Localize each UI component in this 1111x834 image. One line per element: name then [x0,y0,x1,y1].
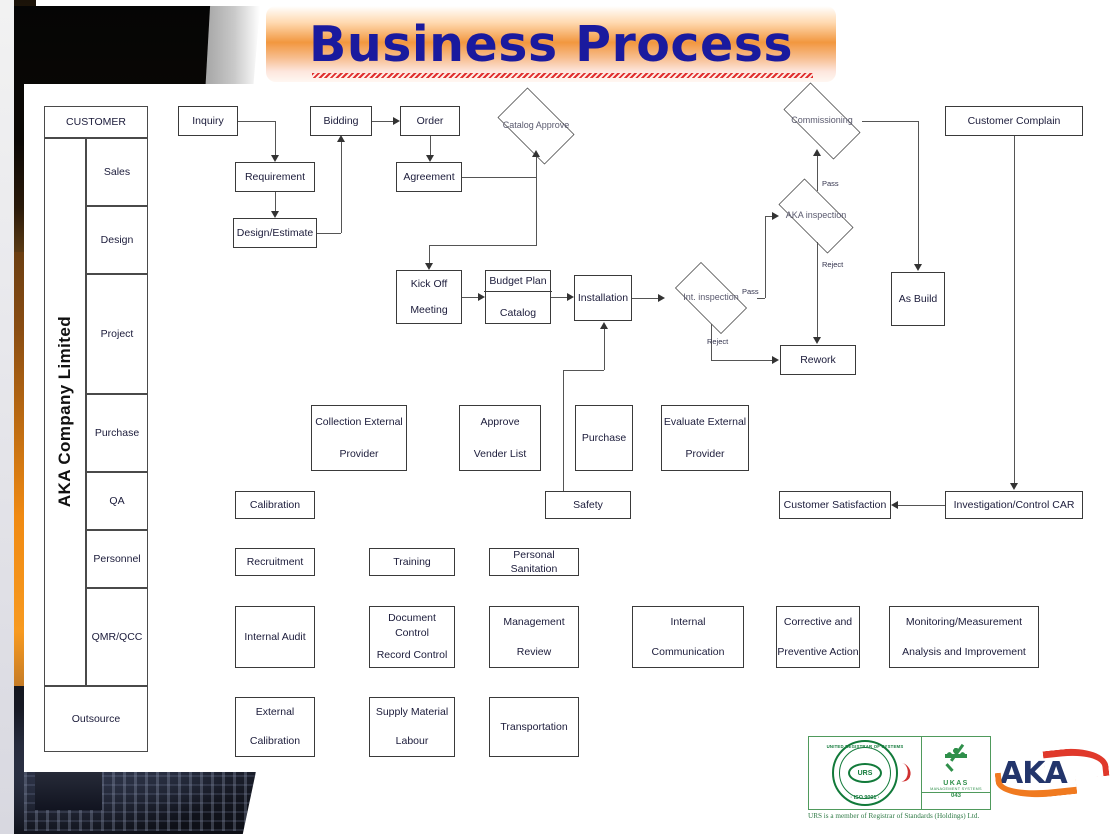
edge-budget-installation [551,297,568,298]
edge-aka-reject-v [817,242,818,338]
node-label: Customer Satisfaction [778,498,892,512]
urs-seal-icon: UNITED REGISTRAR OF SYSTEMS URS · ISO 90… [832,740,898,806]
node-label: AKA inspection [774,210,858,221]
node-label-line2: Meeting [395,303,463,317]
box-supply-material-labour[interactable]: Supply Material Labour [369,697,455,757]
swimlane-header-label: CUSTOMER [66,116,126,128]
box-training[interactable]: Training [369,548,455,576]
node-kick-off-meeting[interactable]: Kick Off Meeting [396,270,462,324]
arrowhead [772,356,779,364]
arrowhead [478,293,485,301]
box-label-line1: Recruitment [234,555,316,569]
box-label-line1: Internal Audit [234,630,316,644]
swimlane-item-purchase[interactable]: Purchase [86,394,148,472]
swimlane-label: Outsource [72,713,120,725]
edge-safety-installation-h [563,370,604,371]
box-label-line2: Provider [310,447,408,461]
page-title: Business Process [309,20,793,69]
arrowhead [393,117,400,125]
swimlane-item-qmr-qcc[interactable]: QMR/QCC [86,588,148,686]
box-internal-communication[interactable]: Internal Communication [632,606,744,668]
edge-agreement-catalog [462,177,536,178]
ukas-subtitle: MANAGEMENT SYSTEMS [930,787,982,791]
box-management-review[interactable]: Management Review [489,606,579,668]
edge-kickoff-budget [462,297,479,298]
box-label-line1: Transportation [488,720,580,734]
edge-design-bidding-v [341,142,342,233]
edge-complain-investigation [1014,136,1015,484]
node-customer-complain[interactable]: Customer Complain [945,106,1083,136]
edge-commissioning-asbuild-v [918,121,919,265]
arrowhead [813,337,821,344]
aka-brand-logo: AKA [1000,744,1104,800]
node-budget-plan-catalog[interactable]: Budget Plan Catalog [485,270,551,324]
node-bidding[interactable]: Bidding [310,106,372,136]
edge-inquiry-requirement [238,121,275,122]
node-requirement[interactable]: Requirement [235,162,315,192]
box-corrective-preventive-action[interactable]: Corrective and Preventive Action [776,606,860,668]
edge-safety-installation-v2 [604,328,605,370]
arrowhead [600,322,608,329]
box-label-line2: Calibration [234,734,316,748]
urs-iso9001-logo: UNITED REGISTRAR OF SYSTEMS URS · ISO 90… [809,737,922,809]
node-rework[interactable]: Rework [780,345,856,375]
node-label: Rework [779,353,857,367]
box-label-line1: Approve [458,415,542,429]
box-label-line1: Calibration [234,498,316,512]
swimlane-header-customer: CUSTOMER [44,106,148,138]
ukas-logo: UKAS MANAGEMENT SYSTEMS 043 [922,737,990,809]
arrowhead [567,293,574,301]
box-monitoring-measurement[interactable]: Monitoring/Measurement Analysis and Impr… [889,606,1039,668]
box-calibration[interactable]: Calibration [235,491,315,519]
node-label: As Build [890,292,946,306]
arrowhead [891,501,898,509]
box-document-record-control[interactable]: Document Control Record Control [369,606,455,668]
ukas-number: 043 [922,792,990,799]
node-label: Inquiry [177,114,239,128]
node-agreement[interactable]: Agreement [396,162,462,192]
edge-investigation-satisfaction [898,505,945,506]
box-label-line1: Purchase [574,431,634,445]
box-label-line2: Vender List [458,447,542,461]
arrowhead [813,149,821,156]
edge-order-agreement [430,136,431,156]
edge-catalog-kickoff-h [429,245,537,246]
node-label: Commissioning [779,115,865,126]
node-customer-satisfaction[interactable]: Customer Satisfaction [779,491,891,519]
node-int-inspection[interactable]: Int. inspection [665,272,757,324]
arrowhead [1010,483,1018,490]
edge-int-pass-v [765,216,766,298]
node-investigation-control-car[interactable]: Investigation/Control CAR [945,491,1083,519]
node-catalog-approve[interactable]: Catalog Approve [489,96,583,156]
node-label-line2: Catalog [484,303,552,323]
box-label-line1: Monitoring/Measurement [888,615,1040,629]
arrowhead [426,155,434,162]
edge-label-aka-pass: Pass [822,179,839,188]
checkmark-icon [943,758,969,780]
swimlane-item-qa[interactable]: QA [86,472,148,530]
edge-inquiry-requirement-v [275,121,276,157]
swimlane-company-label: AKA Company Limited [44,138,86,686]
edge-installation-intinspection [632,298,659,299]
box-label-line1: Internal [631,615,745,629]
box-label-line2: Analysis and Improvement [888,645,1040,659]
swimlane-item-sales[interactable]: Sales [86,138,148,206]
box-label-line2: Preventive Action [775,645,861,659]
swimlane-label: Purchase [95,427,139,439]
box-label-line1: Evaluate External [660,415,750,429]
box-label-line1: Management [488,615,580,629]
edge-requirement-design [275,192,276,212]
urs-top-text: UNITED REGISTRAR OF SYSTEMS [827,744,904,749]
node-label: Requirement [234,170,316,184]
arrowhead [271,211,279,218]
edge-label-aka-reject: Reject [822,260,843,269]
node-label-line1: Budget Plan [484,271,552,292]
edge-catalog-down [536,156,537,177]
arrowhead [914,264,922,271]
certification-note: URS is a member of Registrar of Standard… [808,812,1038,820]
swimlane-item-personnel[interactable]: Personnel [86,530,148,588]
arrowhead [337,135,345,142]
swimlane-item-design[interactable]: Design [86,206,148,274]
box-evaluate-external-provider[interactable]: Evaluate External Provider [661,405,749,471]
node-label: Bidding [309,114,373,128]
swimlane-label: Project [101,328,134,340]
edge-commissioning-asbuild-h [862,121,918,122]
node-as-build[interactable]: As Build [891,272,945,326]
node-label: Design/Estimate [232,226,318,240]
edge-int-reject-h [711,360,773,361]
node-commissioning[interactable]: Commissioning [772,94,872,148]
box-label-line2: Communication [631,645,745,659]
swimlane-table: CUSTOMER AKA Company Limited Sales Desig… [44,106,148,752]
node-order[interactable]: Order [400,106,460,136]
urs-bottom-text: · ISO 9001 · [850,795,879,801]
box-personal-sanitation[interactable]: Personal Sanitation [489,548,579,576]
node-label: Investigation/Control CAR [944,498,1084,512]
edge-catalog-kickoff-v1 [536,177,537,245]
ukas-title: UKAS [943,780,968,787]
swimlane-label: Sales [104,166,130,178]
box-label-line1: Training [368,555,456,569]
node-label-line2: Approve [536,120,570,130]
swimlane-item-project[interactable]: Project [86,274,148,394]
box-label-line2: Provider [660,447,750,461]
node-label: Catalog Approve [496,120,577,131]
box-label-line1: External [234,705,316,719]
node-label: Customer Complain [944,114,1084,128]
certification-logo-block: UNITED REGISTRAR OF SYSTEMS URS · ISO 90… [808,736,991,810]
node-installation[interactable]: Installation [574,275,632,321]
title-banner: Business Process [266,6,836,82]
edge-safety-installation-v [563,370,564,492]
node-label: Order [399,114,461,128]
node-label: Agreement [395,170,463,184]
spellcheck-squiggle-underline [312,73,814,78]
urs-center-text: URS [848,763,882,783]
box-label-line1: Collection External [310,415,408,429]
box-internal-audit[interactable]: Internal Audit [235,606,315,668]
box-external-calibration[interactable]: External Calibration [235,697,315,757]
swimlane-item-outsource[interactable]: Outsource [44,686,148,752]
box-label-line1: Safety [544,498,632,512]
diagram-sheet [24,84,1092,772]
edge-label-int-reject: Reject [707,337,728,346]
node-design-estimate[interactable]: Design/Estimate [233,218,317,248]
box-recruitment[interactable]: Recruitment [235,548,315,576]
company-name-text: AKA Company Limited [55,316,75,507]
swimlane-label: Personnel [93,553,140,565]
box-collection-external-provider[interactable]: Collection External Provider [311,405,407,471]
edge-design-bidding [317,233,341,234]
edge-aka-pass-v [817,155,818,191]
box-label-line1: Supply Material [368,705,456,719]
box-label-line1: Corrective and [775,615,861,629]
node-label: Int. inspection [671,292,750,303]
arrowhead [425,263,433,270]
arrowhead [271,155,279,162]
edge-catalog-kickoff-v2 [429,245,430,265]
swimlane-label: QA [109,495,124,507]
box-approve-vender-list[interactable]: Approve Vender List [459,405,541,471]
slide-canvas: Business Process CUSTOMER AKA Company Li… [0,0,1111,834]
node-label-line1: Kick Off [395,277,463,291]
box-label-line2: Review [488,645,580,659]
arrowhead [532,150,540,157]
box-transportation[interactable]: Transportation [489,697,579,757]
node-inquiry[interactable]: Inquiry [178,106,238,136]
node-aka-inspection[interactable]: AKA inspection [767,190,865,242]
box-label-line1: Personal Sanitation [488,548,580,576]
box-label-line2: Record Control [368,648,456,662]
arrowhead [658,294,665,302]
edge-int-pass-h [757,298,765,299]
box-label-line1: Document Control [368,611,456,639]
swimlane-label: QMR/QCC [92,631,143,643]
box-purchase[interactable]: Purchase [575,405,633,471]
node-label-line1: Catalog [503,120,534,130]
edge-bidding-order [372,121,394,122]
slide-left-edge [0,0,14,834]
node-label: Installation [573,291,633,305]
box-label-line2: Labour [368,734,456,748]
swimlane-label: Design [101,234,134,246]
box-safety[interactable]: Safety [545,491,631,519]
